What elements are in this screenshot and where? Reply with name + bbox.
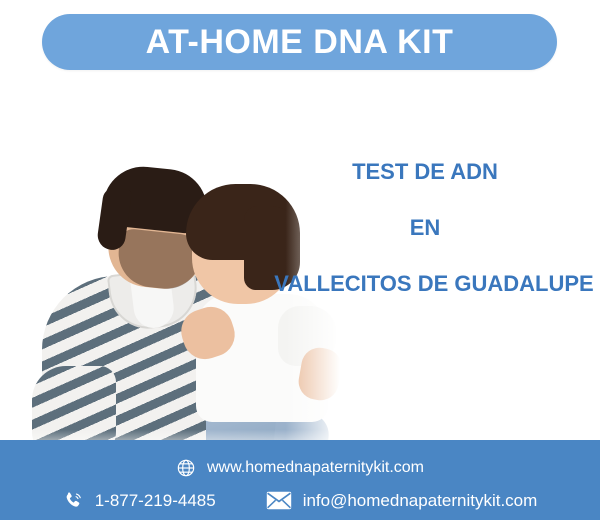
website-item[interactable]: www.homednapaternitykit.com (176, 458, 424, 478)
email-text: info@homednapaternitykit.com (303, 492, 538, 509)
envelope-icon (266, 491, 292, 510)
footer-contact-row: 1-877-219-4485 info@homednapaternitykit.… (0, 486, 600, 514)
phone-text: 1-877-219-4485 (95, 492, 216, 509)
promo-card: AT-HOME DNA KIT TEST DE ADN EN VALLECITO… (0, 0, 600, 520)
headline-line-2: EN (250, 216, 600, 240)
globe-icon (176, 458, 196, 478)
banner-title: AT-HOME DNA KIT (146, 25, 454, 59)
header-banner: AT-HOME DNA KIT (42, 14, 557, 70)
email-item[interactable]: info@homednapaternitykit.com (266, 491, 538, 510)
headline-line-3: VALLECITOS DE GUADALUPE (268, 272, 600, 296)
phone-item[interactable]: 1-877-219-4485 (63, 490, 216, 511)
headline-line-1: TEST DE ADN (250, 160, 600, 184)
website-text: www.homednapaternitykit.com (207, 460, 424, 476)
footer-notch (0, 440, 270, 454)
phone-icon (63, 490, 84, 511)
footer-website-row: www.homednapaternitykit.com (0, 455, 600, 481)
headline-block: TEST DE ADN EN VALLECITOS DE GUADALUPE (250, 160, 600, 297)
